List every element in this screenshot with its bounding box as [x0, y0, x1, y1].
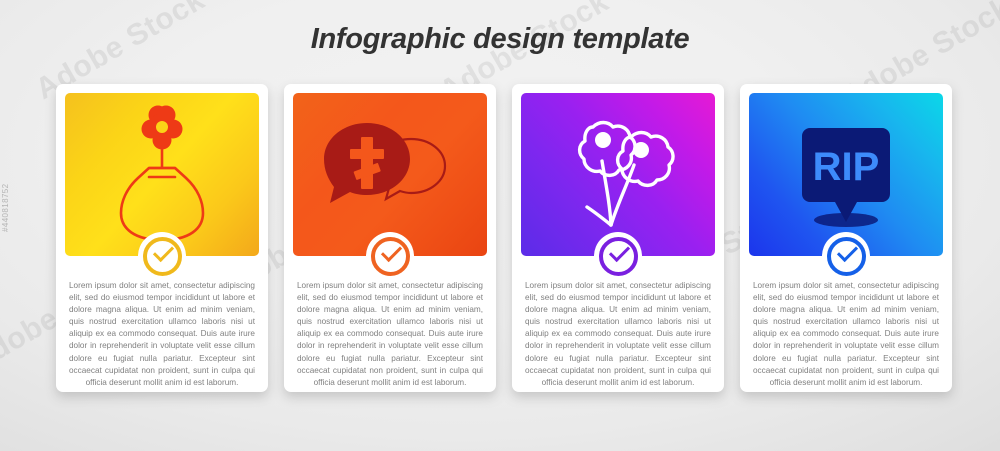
infographic-canvas: Adobe Stock Adobe Stock Adobe Stock Adob… [0, 0, 1000, 451]
watermark-asset-id: #440818752 [1, 184, 10, 233]
check-icon [143, 237, 182, 276]
card-body-text: Lorem ipsum dolor sit amet, consectetur … [69, 280, 255, 389]
cards-row: Lorem ipsum dolor sit amet, consectetur … [56, 84, 952, 396]
check-badge [594, 232, 642, 280]
rip-label: RIP [813, 145, 880, 189]
page-title: Infographic design template [0, 22, 1000, 56]
check-icon [371, 237, 410, 276]
check-icon [827, 237, 866, 276]
check-icon [599, 237, 638, 276]
info-card[interactable]: RIP Lorem ipsum dolor sit amet, consecte… [740, 84, 952, 392]
check-badge [366, 232, 414, 280]
info-card[interactable]: Lorem ipsum dolor sit amet, consectetur … [56, 84, 268, 392]
info-card[interactable]: Lorem ipsum dolor sit amet, consectetur … [284, 84, 496, 392]
card-body-text: Lorem ipsum dolor sit amet, consectetur … [753, 280, 939, 389]
card-body-text: Lorem ipsum dolor sit amet, consectetur … [297, 280, 483, 389]
check-badge [138, 232, 186, 280]
card-body-text: Lorem ipsum dolor sit amet, consectetur … [525, 280, 711, 389]
check-badge [822, 232, 870, 280]
info-card[interactable]: Lorem ipsum dolor sit amet, consectetur … [512, 84, 724, 392]
